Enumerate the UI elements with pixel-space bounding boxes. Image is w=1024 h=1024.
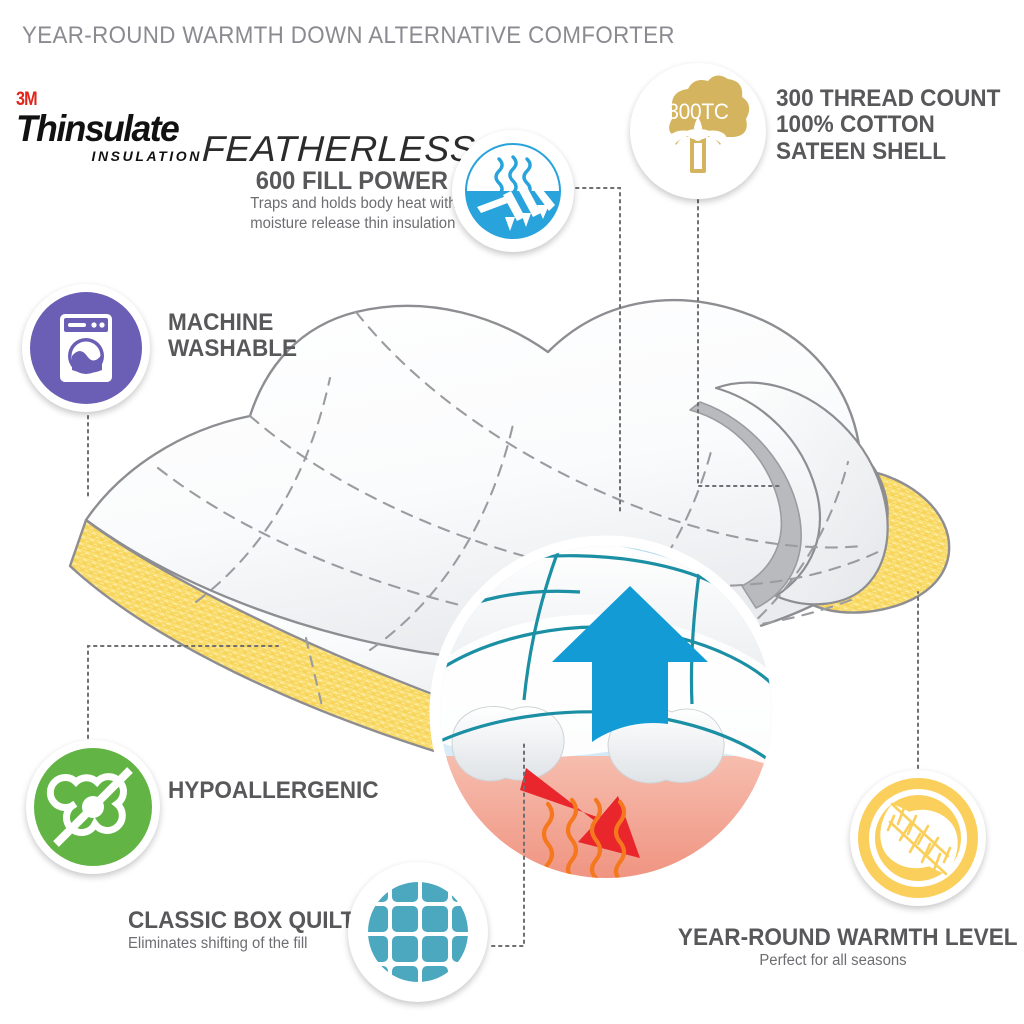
thread-count-line-1: 300 THREAD COUNT [776,86,1000,112]
fill-power-sub-2: moisture release thin insulation [250,214,448,234]
feature-hypoallergenic-label: HYPOALLERGENIC [168,778,392,804]
insulation-subtitle: INSULATION [16,149,202,163]
thinsulate-logo: 3M Thinsulate INSULATION [16,90,216,163]
feature-fill-power-label: 600 FILL POWER Traps and holds body heat… [242,168,448,233]
machine-washable-line-2: WASHABLE [168,336,297,362]
3m-wordmark: 3M [16,90,186,109]
feature-box-quilt-label: CLASSIC BOX QUILT Eliminates shifting of… [128,908,369,954]
machine-washable-badge [22,284,150,412]
warmth-detail-magnifier [430,540,790,916]
featherless-wordmark: FEATHERLESS [201,128,476,170]
box-quilt-grid-icon [356,870,480,994]
hypoallergenic-badge [26,740,160,874]
warmth-level-sub: Perfect for all seasons [675,951,992,970]
fill-power-sub-1: Traps and holds body heat with [250,194,448,214]
thread-count-line-3: SATEEN SHELL [776,139,1000,165]
thread-count-badge: 300TC [630,63,766,199]
box-quilt-badge [348,862,488,1002]
thread-count-line-2: 100% COTTON [776,112,1000,138]
moisture-release-badge [452,130,574,252]
warmth-level-heading: YEAR-ROUND WARMTH LEVEL [678,925,988,951]
machine-washable-line-1: MACHINE [168,310,297,336]
box-quilt-sub: Eliminates shifting of the fill [128,934,359,953]
infographic-canvas: YEAR-ROUND WARMTH DOWN ALTERNATIVE COMFO… [0,0,1024,1024]
feather-icon [858,778,978,898]
box-quilt-heading: CLASSIC BOX QUILT [128,908,354,934]
washing-machine-icon [30,292,142,404]
moisture-release-icon [461,139,565,243]
fill-power-heading: 600 FILL POWER [252,168,448,194]
hypoallergenic-heading: HYPOALLERGENIC [168,778,379,804]
no-allergy-flower-icon [34,748,152,866]
feature-thread-count-label: 300 THREAD COUNT 100% COTTON SATEEN SHEL… [776,86,1015,165]
feature-machine-washable-label: MACHINE WASHABLE [168,310,305,363]
feature-warmth-level-label: YEAR-ROUND WARMTH LEVEL Perfect for all … [668,925,998,971]
warmth-level-badge [850,770,986,906]
thinsulate-wordmark: Thinsulate [16,110,208,147]
cotton-boll-icon: 300TC [638,71,758,191]
